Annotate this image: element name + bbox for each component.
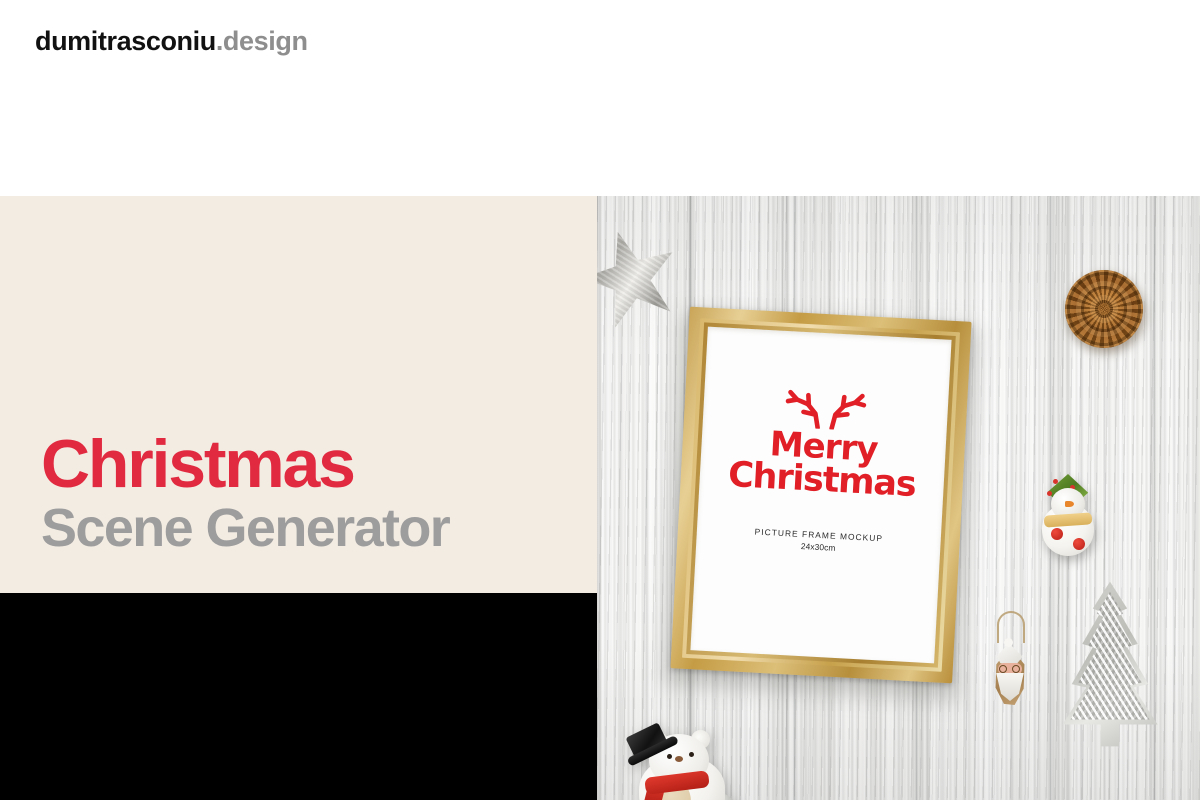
logo-brand-text: dumitrasconiu (35, 26, 216, 56)
silver-star-ornament (597, 230, 679, 326)
scene-photo: Merry Christmas PICTURE FRAME MOCKUP 24x… (597, 196, 1200, 800)
snowman-hat-dot (1053, 479, 1058, 484)
frame-artwork-area[interactable]: Merry Christmas PICTURE FRAME MOCKUP 24x… (690, 327, 951, 664)
reindeer-antlers-icon (782, 385, 870, 432)
wooden-santa-ornament (987, 639, 1033, 711)
bear-nose (675, 756, 683, 762)
features-panel: Ready to use High resolution Real props … (0, 593, 597, 800)
snowman-button (1073, 538, 1085, 550)
silver-tree-ornament (1044, 580, 1176, 748)
pine-cone-prop (1065, 270, 1143, 348)
header-bar: dumitrasconiu.design (0, 0, 1200, 196)
pine-cone-icon (1065, 270, 1143, 348)
mockup-caption: PICTURE FRAME MOCKUP 24x30cm (696, 523, 941, 558)
artwork-greeting: Merry Christmas (699, 381, 949, 505)
title-block: Christmas Scene Generator (41, 432, 449, 557)
bear-eye (689, 752, 694, 757)
snowman-hat-dot (1047, 491, 1052, 496)
greeting-line-2: Christmas (699, 458, 944, 504)
promo-page: dumitrasconiu.design Christmas Scene Gen… (0, 0, 1200, 800)
frame-border: Merry Christmas PICTURE FRAME MOCKUP 24x… (670, 307, 971, 684)
santa-glasses (1012, 665, 1020, 673)
snowman-carrot-nose (1065, 501, 1074, 507)
site-logo[interactable]: dumitrasconiu.design (35, 28, 308, 55)
picture-frame-mockup[interactable]: Merry Christmas PICTURE FRAME MOCKUP 24x… (670, 307, 971, 684)
santa-beard (995, 673, 1025, 701)
bear-figurine-prop (615, 726, 743, 800)
star-icon (597, 219, 690, 338)
santa-hat-pompom (1004, 638, 1013, 647)
snowman-ornament (1034, 474, 1102, 558)
logo-tld-text: .design (216, 26, 308, 56)
santa-glasses (999, 665, 1007, 673)
page-title: Christmas (41, 432, 449, 498)
title-panel: Christmas Scene Generator ADOBE PHOTOSHO… (0, 196, 597, 593)
page-subtitle: Scene Generator (41, 500, 449, 557)
snowman-button (1051, 528, 1063, 540)
greeting-text-block: Merry Christmas (699, 424, 946, 504)
